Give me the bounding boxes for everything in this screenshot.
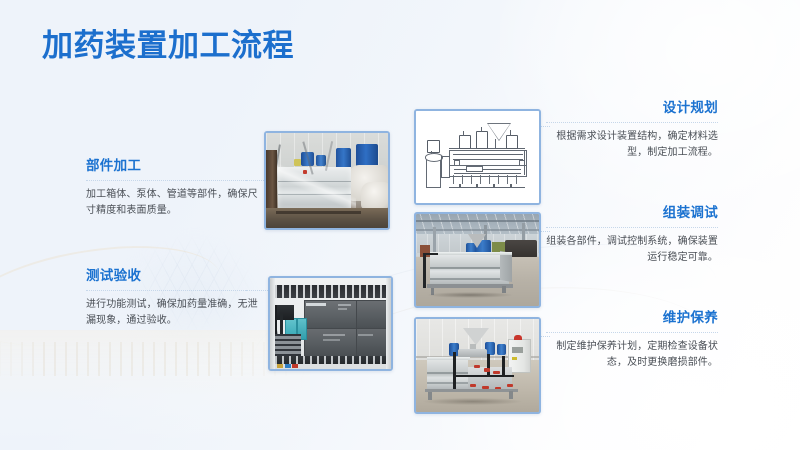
- step-image-test: [268, 276, 393, 371]
- step-body-maintenance: 制定维护保养计划，定期检查设备状态，及时更换磨损部件。: [546, 339, 718, 371]
- dosing-skid-with-control-cabinet-photo: [416, 319, 539, 412]
- siemens-plc-control-panel-photo: [270, 278, 391, 369]
- step-image-maintenance: [414, 317, 541, 414]
- step-image-assembly: [414, 212, 541, 308]
- step-body-design: 根据需求设计装置结构，确定材料选型，制定加工流程。: [546, 129, 718, 161]
- step-image-design: [414, 109, 541, 205]
- step-body-parts: 加工箱体、泵体、管道等部件，确保尺寸精度和表面质量。: [86, 187, 258, 219]
- step-divider-assembly: [546, 227, 718, 228]
- step-divider-maintenance: [546, 332, 718, 333]
- step-block-test: 测试验收 进行功能测试，确保加药量准确，无泄漏现象，通过验收。: [86, 268, 258, 330]
- step-body-assembly: 组装各部件，调试控制系统，确保装置运行稳定可靠。: [546, 234, 718, 266]
- background-watermark-plaza: [0, 330, 310, 450]
- step-image-parts: [264, 131, 390, 230]
- step-divider-design: [546, 122, 718, 123]
- step-title-maintenance: 维护保养: [546, 310, 718, 326]
- step-block-assembly: 组装调试 组装各部件，调试控制系统，确保装置运行稳定可靠。: [546, 205, 718, 267]
- stainless-dosing-tank-in-workshop-photo: [416, 214, 539, 306]
- step-block-design: 设计规划 根据需求设计装置结构，确定材料选型，制定加工流程。: [546, 100, 718, 162]
- step-block-maintenance: 维护保养 制定维护保养计划，定期检查设备状态，及时更换磨损部件。: [546, 310, 718, 372]
- slide-canvas: 加药装置加工流程 部件加工 加工箱体、泵体、管道等部件，确保尺寸精度和表面质量。…: [0, 0, 800, 450]
- step-title-design: 设计规划: [546, 100, 718, 116]
- dosing-device-schematic-drawing: [416, 111, 539, 203]
- step-divider-parts: [86, 180, 258, 181]
- page-title: 加药装置加工流程: [42, 29, 294, 63]
- step-title-parts: 部件加工: [86, 158, 258, 174]
- step-body-test: 进行功能测试，确保加药量准确，无泄漏现象，通过验收。: [86, 297, 258, 329]
- step-title-assembly: 组装调试: [546, 205, 718, 221]
- step-title-test: 测试验收: [86, 268, 258, 284]
- step-block-parts: 部件加工 加工箱体、泵体、管道等部件，确保尺寸精度和表面质量。: [86, 158, 258, 220]
- step-divider-test: [86, 290, 258, 291]
- wrapped-stainless-tank-on-pallet-photo: [266, 133, 388, 228]
